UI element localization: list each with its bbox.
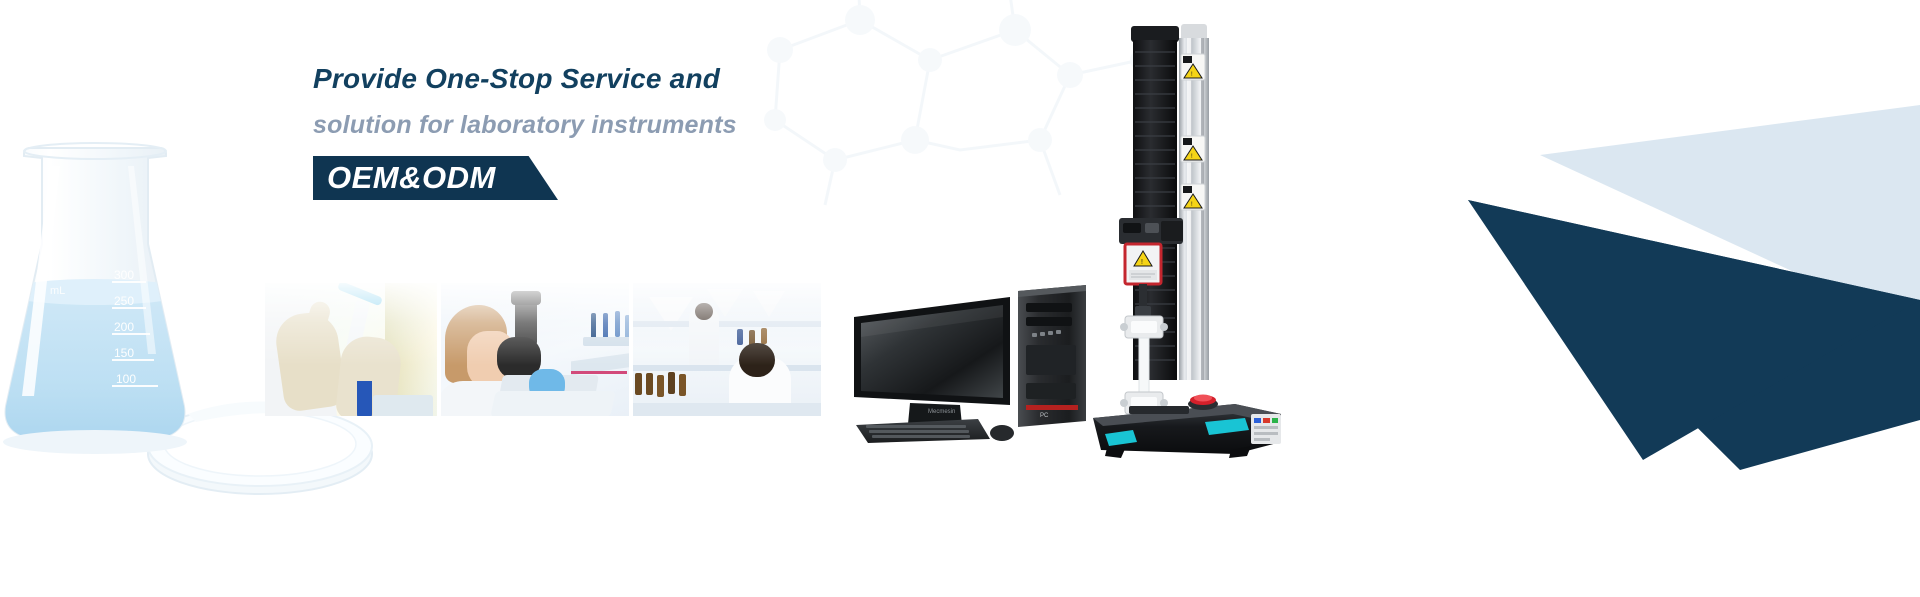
warning-label-2: ! [1181, 136, 1205, 162]
reagent-bottles-row [635, 373, 642, 395]
technician-back-head [695, 303, 713, 320]
technician-front-head [739, 343, 775, 377]
load-cell: ! [1125, 244, 1161, 284]
hero-banner: 300 250 200 150 100 mL Provide One-Stop … [0, 0, 1920, 597]
reagent-bottles-top [737, 329, 743, 345]
bench-label-strip [571, 371, 627, 374]
microscope-base [490, 391, 616, 416]
desktop-computer: Mecmesin PC [850, 285, 1100, 445]
tube-rack [583, 337, 629, 346]
crosshead [1119, 218, 1183, 244]
svg-text:!: ! [1141, 259, 1143, 266]
shelf-top [633, 321, 821, 327]
universal-testing-machine: ! ! ! ! [1085, 18, 1300, 458]
erlenmeyer-flask: 300 250 200 150 100 mL [0, 143, 208, 454]
test-tube-set [591, 313, 596, 339]
arrow-dark-triangle [1468, 200, 1920, 470]
microscope-head [511, 291, 541, 305]
warning-label-1: ! [1181, 54, 1205, 80]
lab-counter [633, 403, 821, 416]
funnel-small [753, 291, 785, 317]
svg-text:mL: mL [50, 285, 65, 297]
monitor: Mecmesin [854, 297, 1010, 435]
shelf-middle [633, 365, 821, 371]
photo-microscope [441, 283, 629, 416]
svg-text:250: 250 [114, 294, 134, 308]
control-panel [1251, 414, 1281, 444]
svg-text:PC: PC [1040, 413, 1049, 419]
photo-lab-bench [633, 283, 821, 416]
svg-text:150: 150 [114, 346, 134, 360]
keyboard [856, 419, 990, 443]
specimen [1139, 338, 1149, 394]
svg-text:100: 100 [116, 372, 136, 386]
arrow-light-triangle [1540, 105, 1920, 330]
tower: PC [1018, 285, 1086, 427]
tower-accent-stripe [1026, 405, 1078, 410]
svg-text:Mecmesin: Mecmesin [928, 409, 955, 415]
headline-block: Provide One-Stop Service and solution fo… [313, 56, 833, 200]
svg-text:200: 200 [114, 320, 134, 334]
emergency-stop [1188, 395, 1218, 411]
tube-rack [373, 395, 433, 416]
platen [1129, 406, 1189, 414]
oem-odm-badge: OEM&ODM [313, 156, 558, 200]
photo-strip [265, 283, 821, 416]
headline-line-2: solution for laboratory instruments [313, 102, 833, 148]
arrow-dark-tail [1468, 200, 1920, 460]
test-tube [357, 381, 372, 416]
badge-label: OEM&ODM [327, 156, 496, 200]
svg-text:300: 300 [114, 268, 134, 282]
warning-label-3: ! [1181, 184, 1205, 210]
headline-line-1: Provide One-Stop Service and [313, 56, 833, 102]
photo-pipetting [265, 283, 437, 416]
mouse [990, 425, 1014, 441]
